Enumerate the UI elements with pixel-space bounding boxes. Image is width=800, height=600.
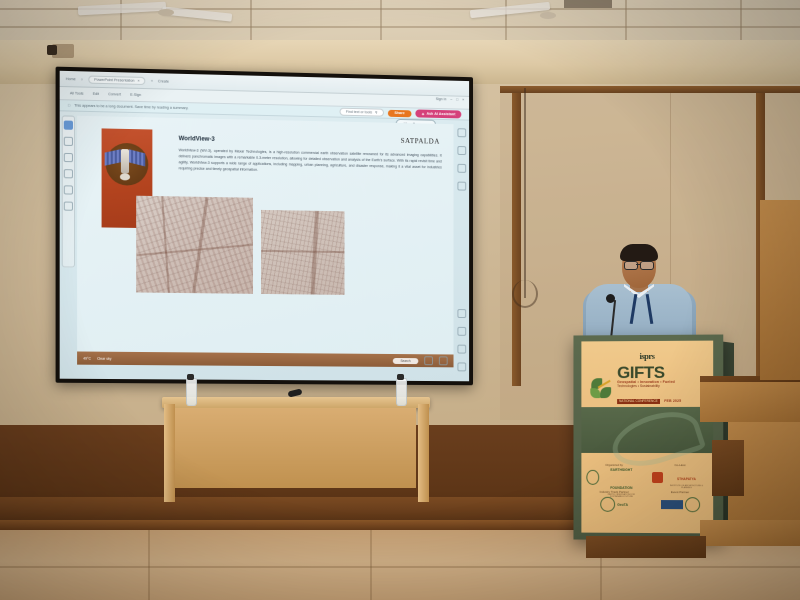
create-button[interactable]: Create: [158, 79, 169, 83]
window-close-button[interactable]: ×: [462, 98, 464, 102]
wooden-lectern-right: [760, 200, 800, 380]
comment-icon[interactable]: [64, 169, 73, 178]
partner-organized-by: Organized by EARTHSIGHT FOUNDATION EARTH…: [586, 463, 642, 486]
gifts-tagline-2: Technologies • Sustainability: [617, 384, 681, 388]
floor-step-block: [586, 536, 706, 558]
search-icon[interactable]: ○: [81, 77, 83, 81]
satellite-dish: [120, 173, 130, 180]
podium-banner: isprs GIFTS Geospatial • Innovation • Fu…: [581, 341, 713, 534]
ceiling-fan-hub: [158, 9, 174, 16]
slide-canvas: SATPALDA WorldView-3 WorldView-3 (WV-3),…: [77, 116, 453, 368]
partner-event: Event Partner: [652, 490, 708, 513]
export-icon[interactable]: [457, 128, 466, 137]
home-tab[interactable]: Home: [66, 77, 76, 81]
weather-temp: 49°C: [83, 356, 91, 360]
water-bottle-left: [186, 378, 197, 406]
search-input-placeholder: Find text or tools: [346, 110, 372, 115]
compress-icon[interactable]: [457, 164, 466, 173]
taskbar-app-icon-2[interactable]: [439, 356, 448, 365]
taskbar-search[interactable]: Search: [393, 357, 419, 363]
event-partner-logo: [652, 496, 708, 513]
satellite-image-right: [261, 210, 344, 295]
geota-mark: [600, 497, 615, 512]
eyeglasses-bridge: [636, 264, 641, 265]
satellite-body: [121, 149, 129, 173]
maximize-button[interactable]: □: [456, 98, 458, 102]
partner-co-host: Co-Host STHAPATYA INSTITUTE OF ARCHITECT…: [652, 463, 708, 486]
speaker-hair: [620, 244, 658, 261]
isprs-logo: isprs: [581, 351, 713, 362]
globe-icon: [586, 470, 598, 485]
gifts-branding: GIFTS Geospatial • Innovation • Fueled T…: [588, 365, 681, 410]
partner-name-2: STHAPATYA: [677, 477, 696, 481]
podium-microphone-head: [606, 294, 615, 303]
taskbar-app-icon-1[interactable]: [424, 356, 433, 365]
eyeglasses-left-lens: [624, 261, 638, 270]
event-partner-mark-2: [685, 497, 700, 512]
menu-item-all-tools[interactable]: All Tools: [70, 91, 84, 95]
left-tool-rail: [62, 115, 75, 267]
cabinet-top: [700, 380, 800, 422]
table-leg-right: [418, 404, 429, 502]
weather-desc: Clear sky: [97, 356, 111, 360]
ai-assistant-label: Ask AI Assistant: [426, 112, 455, 117]
right-tool-rail: [455, 124, 467, 371]
geota-logo: GeoTA: [586, 496, 642, 513]
new-tab-button[interactable]: +: [151, 79, 153, 83]
slide-title: WorldView-3: [179, 136, 215, 143]
earthsight-logo: EARTHSIGHT FOUNDATION EARTH OBSERVATION …: [586, 469, 642, 486]
edit-icon[interactable]: [457, 146, 466, 155]
menu-item-convert[interactable]: Convert: [108, 92, 121, 96]
bottle-cap-right: [397, 374, 404, 380]
menu-item-edit[interactable]: Edit: [93, 92, 99, 96]
event-partner-mark: [660, 500, 682, 509]
ai-assistant-button[interactable]: ✦ Ask AI Assistant: [416, 109, 462, 118]
projection-screen: Home ○ PowerPoint Presentation × + Creat…: [60, 71, 469, 381]
floor-tile-line-1: [0, 566, 800, 568]
stage-step: [700, 520, 800, 546]
window-controls-group: Sign in – □ ×: [436, 97, 465, 102]
crop-icon[interactable]: [457, 309, 466, 318]
wall-trim-top: [500, 86, 800, 93]
shape-icon[interactable]: [64, 185, 73, 194]
conference-room-photo: Home ○ PowerPoint Presentation × + Creat…: [0, 0, 800, 600]
speaker-person: [586, 246, 692, 342]
ceiling-fan-hub-2: [540, 12, 556, 19]
share-icon[interactable]: [457, 327, 466, 336]
conference-bar-text: NATIONAL CONFERENCE: [617, 398, 660, 403]
bookmark-icon[interactable]: [457, 362, 466, 371]
wall-trim-left: [512, 86, 521, 386]
table-front-panel: [173, 408, 416, 488]
search-input[interactable]: Find text or tools ⚲: [340, 108, 384, 117]
cabinet-recess: [712, 440, 744, 496]
share-button[interactable]: Share: [387, 109, 411, 116]
windows-taskbar: 49°C Clear sky Search: [77, 351, 453, 367]
wall-cable-loop: [512, 280, 538, 308]
partners-section: Organized by EARTHSIGHT FOUNDATION EARTH…: [581, 459, 713, 513]
signature-icon[interactable]: [64, 202, 73, 211]
water-bottle-right: [396, 378, 407, 406]
partner-row-1: Organized by EARTHSIGHT FOUNDATION EARTH…: [581, 463, 713, 486]
satellite-image-left: [136, 196, 253, 294]
partner-caption-4: Event Partner: [652, 490, 708, 494]
sthapatya-logo: STHAPATYA INSTITUTE OF ARCHITECTURE & PL…: [652, 469, 708, 486]
wall-cable: [524, 88, 526, 298]
info-icon: □: [68, 103, 70, 107]
zoom-icon[interactable]: [64, 137, 73, 146]
partner-industry-track: Industry Track Partner GeoTA: [586, 490, 642, 513]
document-tab-label: PowerPoint Presentation: [94, 77, 134, 82]
projection-screen-frame: Home ○ PowerPoint Presentation × + Creat…: [56, 67, 473, 386]
partner-name-3: GeoTA: [617, 502, 628, 506]
partner-name: EARTHSIGHT FOUNDATION: [610, 467, 632, 489]
bottle-cap-left: [187, 374, 194, 380]
notice-text: This appears to be a long document. Save…: [74, 104, 188, 111]
ceiling-light-panel: [564, 0, 612, 8]
table-leg-left: [164, 404, 175, 502]
taskbar-search-placeholder: Search: [401, 359, 411, 363]
podium: isprs GIFTS Geospatial • Innovation • Fu…: [573, 334, 723, 540]
document-tab[interactable]: PowerPoint Presentation ×: [88, 75, 146, 84]
security-camera: [47, 45, 57, 55]
signin-button[interactable]: Sign in: [436, 97, 447, 101]
sparkle-icon: ✦: [421, 111, 424, 116]
sthapatya-mark: [652, 472, 663, 483]
partner-sub-2: INSTITUTE OF ARCHITECTURE & PLANNING: [665, 485, 708, 489]
close-icon[interactable]: ×: [137, 78, 139, 82]
menu-item-esign[interactable]: E-Sign: [130, 93, 141, 97]
eyeglasses-right-lens: [640, 261, 654, 270]
pen-icon[interactable]: [64, 153, 73, 162]
rotate-icon[interactable]: [457, 182, 466, 191]
conference-date: FEB 2025: [664, 399, 681, 403]
floor-tile-line-3: [370, 530, 372, 600]
cursor-icon[interactable]: [64, 121, 73, 130]
print-icon[interactable]: [457, 345, 466, 354]
search-icon-small: ⚲: [375, 111, 378, 115]
partner-caption-3: Industry Track Partner: [586, 490, 642, 494]
slide-body-text: WorldView-3 (WV-3), operated by Maxar Te…: [179, 147, 442, 177]
gifts-logo-mark: [588, 375, 614, 401]
gifts-wordmark: GIFTS: [617, 365, 681, 380]
banner-green-band: [581, 407, 713, 453]
minimize-button[interactable]: –: [450, 97, 452, 101]
satpalda-logo: SATPALDA: [401, 137, 440, 146]
partner-row-2: Industry Track Partner GeoTA Event Partn…: [581, 490, 713, 514]
floor-tile-line-2: [148, 530, 150, 600]
table-top: [162, 397, 430, 408]
